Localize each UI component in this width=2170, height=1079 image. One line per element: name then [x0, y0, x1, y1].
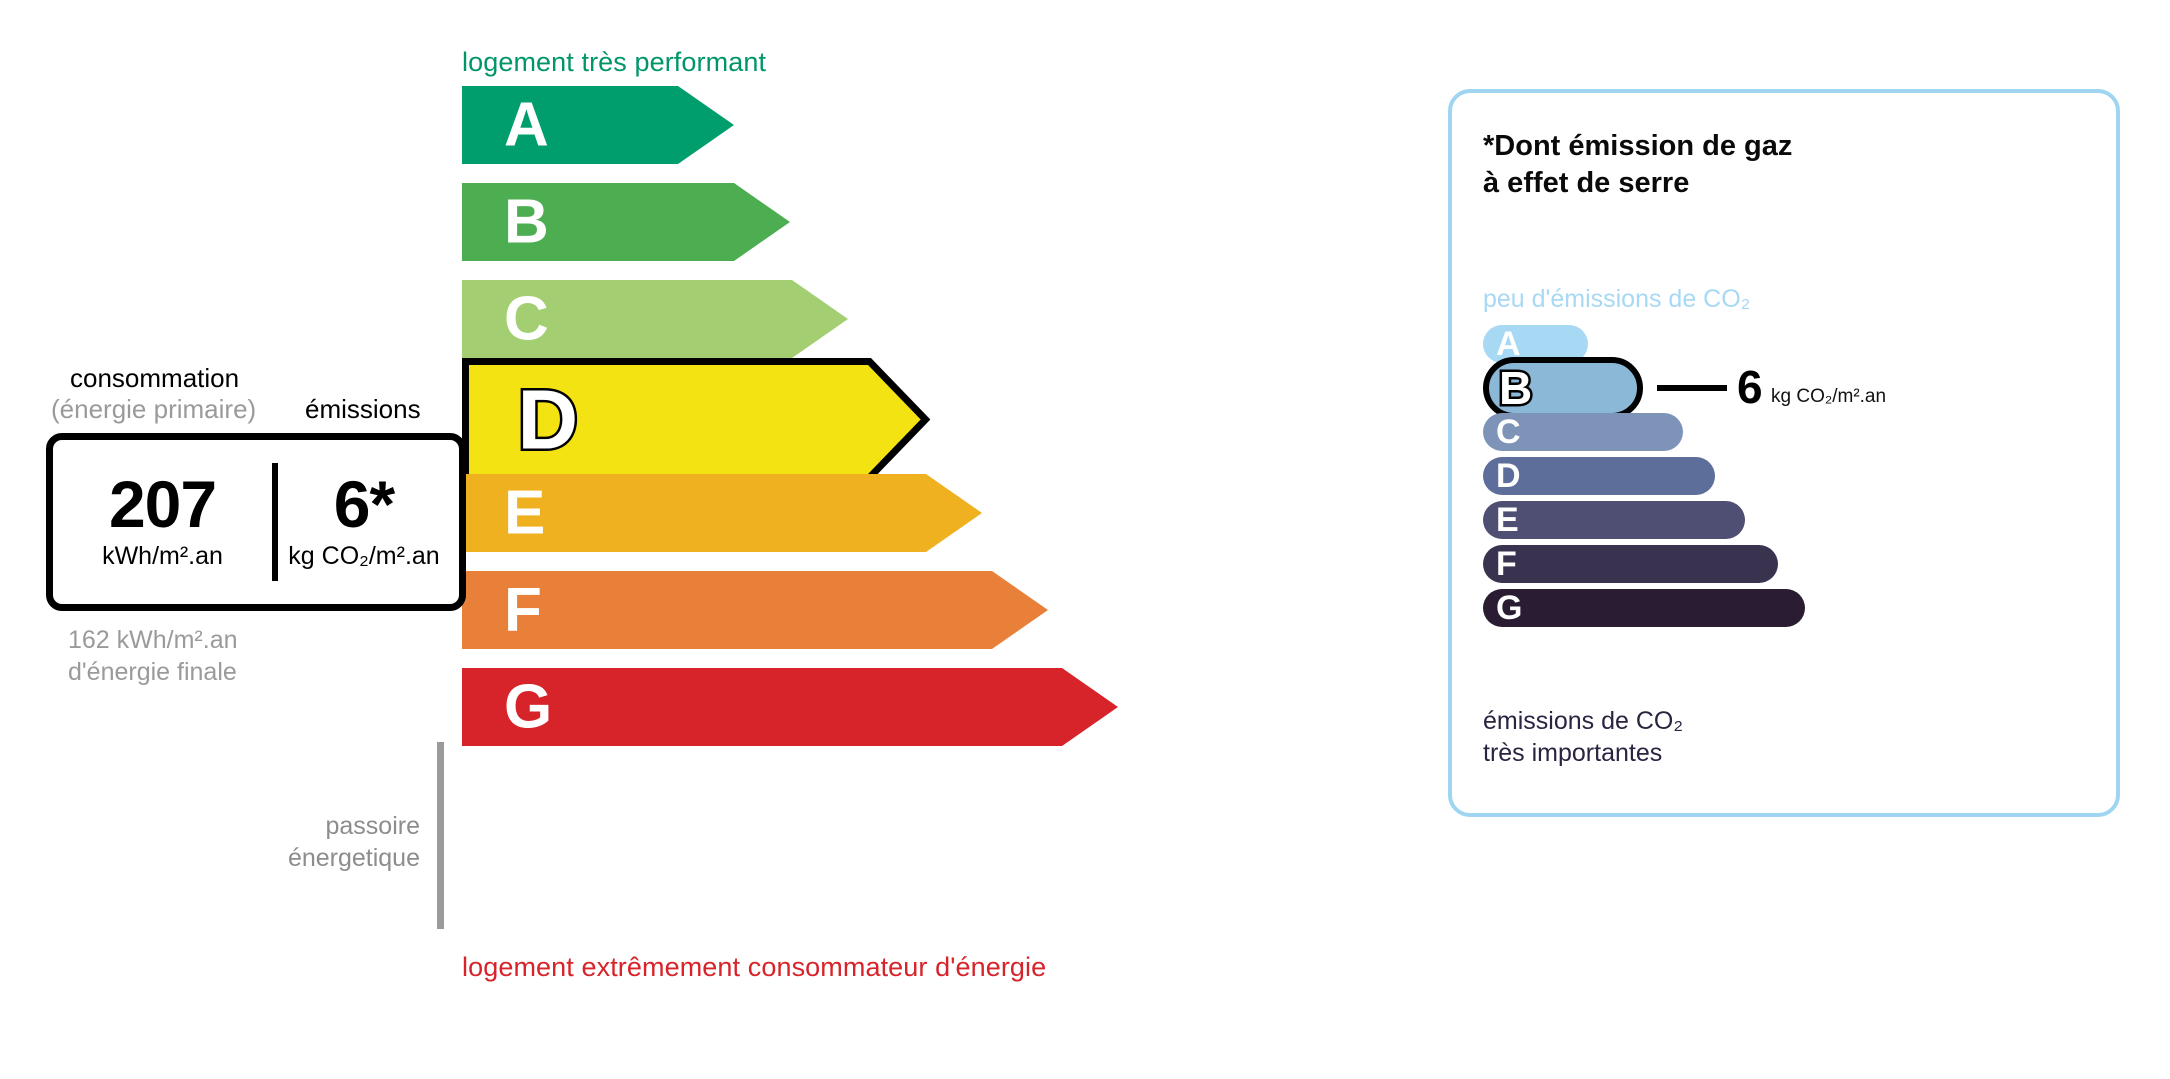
- energy-class-arrow-c: C: [462, 280, 848, 358]
- arrow-shape-f: F: [462, 571, 1048, 649]
- co2-class-bar-b: B: [1483, 357, 1643, 419]
- co2-top-caption: peu d'émissions de CO₂: [1483, 285, 1750, 314]
- energy-class-letter-c: C: [504, 285, 549, 354]
- energy-class-arrow-g: G: [462, 668, 1118, 746]
- emission-value-cell: 6* kg CO₂/m².an: [272, 473, 456, 572]
- emission-number: 6*: [272, 473, 456, 536]
- co2-bar-shape-f: [1483, 545, 1778, 583]
- co2-value-number: 6: [1737, 364, 1763, 410]
- label-consommation: consommation: [70, 363, 239, 394]
- arrow-shape-g: G: [462, 668, 1118, 746]
- co2-title-line1: *Dont émission de gaz: [1483, 128, 1792, 165]
- co2-class-bar-d: D: [1483, 457, 1715, 495]
- co2-bar-shape-e: [1483, 501, 1745, 539]
- energy-top-caption: logement très performant: [462, 47, 766, 78]
- energy-class-letter-e: E: [504, 479, 545, 548]
- co2-bottom-caption-line2: très importantes: [1483, 737, 1683, 769]
- co2-title-line2: à effet de serre: [1483, 165, 1792, 202]
- energy-class-letter-f: F: [504, 576, 542, 645]
- consumption-number: 207: [53, 473, 272, 536]
- emission-unit: kg CO₂/m².an: [272, 542, 456, 571]
- consumption-unit: kWh/m².an: [53, 542, 272, 571]
- arrow-shape-d: D: [462, 358, 929, 481]
- energy-performance-panel: logement très performant ABCDEFG logemen…: [0, 0, 1400, 1079]
- co2-emissions-panel: *Dont émission de gaz à effet de serre p…: [1448, 89, 2120, 817]
- co2-class-bar-c: C: [1483, 413, 1683, 451]
- energy-class-arrow-b: B: [462, 183, 790, 261]
- energy-class-letter-a: A: [504, 91, 549, 160]
- passoire-energetique-label: passoire énergetique: [170, 810, 420, 874]
- dpe-diagram: logement très performant ABCDEFG logemen…: [0, 0, 2170, 1079]
- passoire-energetique-bracket: [437, 742, 444, 929]
- co2-bottom-caption: émissions de CO₂ très importantes: [1483, 705, 1683, 769]
- energy-class-arrow-a: A: [462, 86, 734, 164]
- co2-bottom-caption-line1: émissions de CO₂: [1483, 705, 1683, 737]
- co2-class-letter-f: F: [1496, 547, 1517, 581]
- label-energie-primaire: (énergie primaire): [51, 394, 256, 425]
- energy-bottom-caption: logement extrêmement consommateur d'éner…: [462, 952, 1046, 983]
- co2-panel-title: *Dont émission de gaz à effet de serre: [1483, 128, 1792, 201]
- co2-class-letter-b: B: [1499, 365, 1532, 411]
- co2-class-letter-e: E: [1496, 503, 1519, 537]
- co2-callout-connector: [1657, 385, 1727, 391]
- co2-class-bar-g: G: [1483, 589, 1805, 627]
- arrow-shape-b: B: [462, 183, 790, 261]
- final-energy-footnote-line1: 162 kWh/m².an: [68, 624, 238, 656]
- label-emissions: émissions: [305, 394, 421, 425]
- energy-class-arrow-d: D: [462, 358, 922, 474]
- passoire-line2: énergetique: [170, 842, 420, 874]
- arrow-shape-a: A: [462, 86, 734, 164]
- co2-class-bar-f: F: [1483, 545, 1778, 583]
- final-energy-footnote-line2: d'énergie finale: [68, 656, 238, 688]
- co2-class-letter-d: D: [1496, 459, 1521, 493]
- final-energy-footnote: 162 kWh/m².an d'énergie finale: [68, 624, 238, 688]
- arrow-shape-c: C: [462, 280, 848, 358]
- consumption-value-cell: 207 kWh/m².an: [53, 473, 272, 572]
- passoire-line1: passoire: [170, 810, 420, 842]
- energy-class-letter-g: G: [504, 673, 552, 742]
- co2-value-unit: kg CO₂/m².an: [1771, 386, 1886, 408]
- energy-class-arrow-f: F: [462, 571, 1048, 649]
- co2-class-letter-a: A: [1496, 327, 1521, 361]
- energy-value-box: 207 kWh/m².an 6* kg CO₂/m².an: [46, 433, 466, 611]
- energy-class-arrow-e: E: [462, 474, 982, 552]
- co2-class-letter-c: C: [1496, 415, 1521, 449]
- energy-class-letter-b: B: [504, 188, 549, 257]
- co2-class-letter-g: G: [1496, 591, 1522, 625]
- arrow-shape-e: E: [462, 474, 982, 552]
- energy-class-letter-d: D: [518, 373, 579, 467]
- co2-class-bar-e: E: [1483, 501, 1745, 539]
- co2-bar-shape-g: [1483, 589, 1805, 627]
